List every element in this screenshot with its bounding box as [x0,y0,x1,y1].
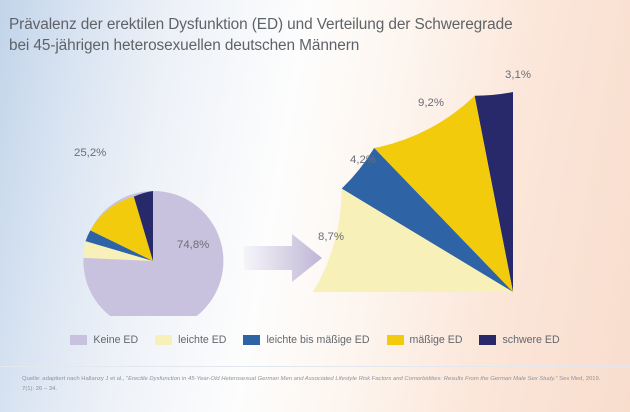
legend-item-maessige-ed[interactable]: mäßige ED [387,334,463,346]
legend-item-leichte-bis-maessige-ed[interactable]: leichte bis mäßige ED [243,334,369,346]
label-ed-total: 25,2% [74,147,106,159]
legend-label: leichte ED [178,334,226,346]
overview-pie [83,191,223,316]
chart-legend: Keine ED leichte ED leichte bis mäßige E… [0,326,630,354]
label-schwere-ed: 3,1% [505,69,531,81]
transition-arrow-icon [244,234,322,282]
page-title: Prävalenz der erektilen Dysfunktion (ED)… [9,14,609,56]
legend-item-keine-ed[interactable]: Keine ED [70,334,138,346]
legend-item-schwere-ed[interactable]: schwere ED [479,334,559,346]
source-article-title: Erectile Dysfunction in 45-Year-Old Hete… [128,376,555,382]
pie-chart-svg: 25,2% 74,8% 3,1% 9,2% 4,2% 8,7% [0,66,630,316]
source-citation: Quelle: adaptiert nach Hallanzy J et al.… [22,375,614,394]
legend-item-leichte-ed[interactable]: leichte ED [155,334,226,346]
legend-swatch-icon [70,335,87,345]
label-maessige-ed: 9,2% [418,97,444,109]
legend-label: mäßige ED [410,334,463,346]
legend-swatch-icon [387,335,404,345]
legend-label: Keine ED [93,334,138,346]
label-leichte-bis-maessige-ed: 4,2% [350,154,376,166]
legend-label: schwere ED [502,334,559,346]
footer-divider [0,366,630,367]
legend-swatch-icon [479,335,496,345]
infographic-canvas: Prävalenz der erektilen Dysfunktion (ED)… [0,0,630,412]
legend-label: leichte bis mäßige ED [266,334,369,346]
source-prefix: Quelle: adaptiert nach Hallanzy J et al.… [22,376,128,382]
legend-swatch-icon [243,335,260,345]
label-keine-ed: 74,8% [177,239,209,251]
chart-area: 25,2% 74,8% 3,1% 9,2% 4,2% 8,7% [0,66,630,316]
severity-exploded-pie [313,92,513,292]
legend-swatch-icon [155,335,172,345]
label-leichte-ed: 8,7% [318,231,344,243]
